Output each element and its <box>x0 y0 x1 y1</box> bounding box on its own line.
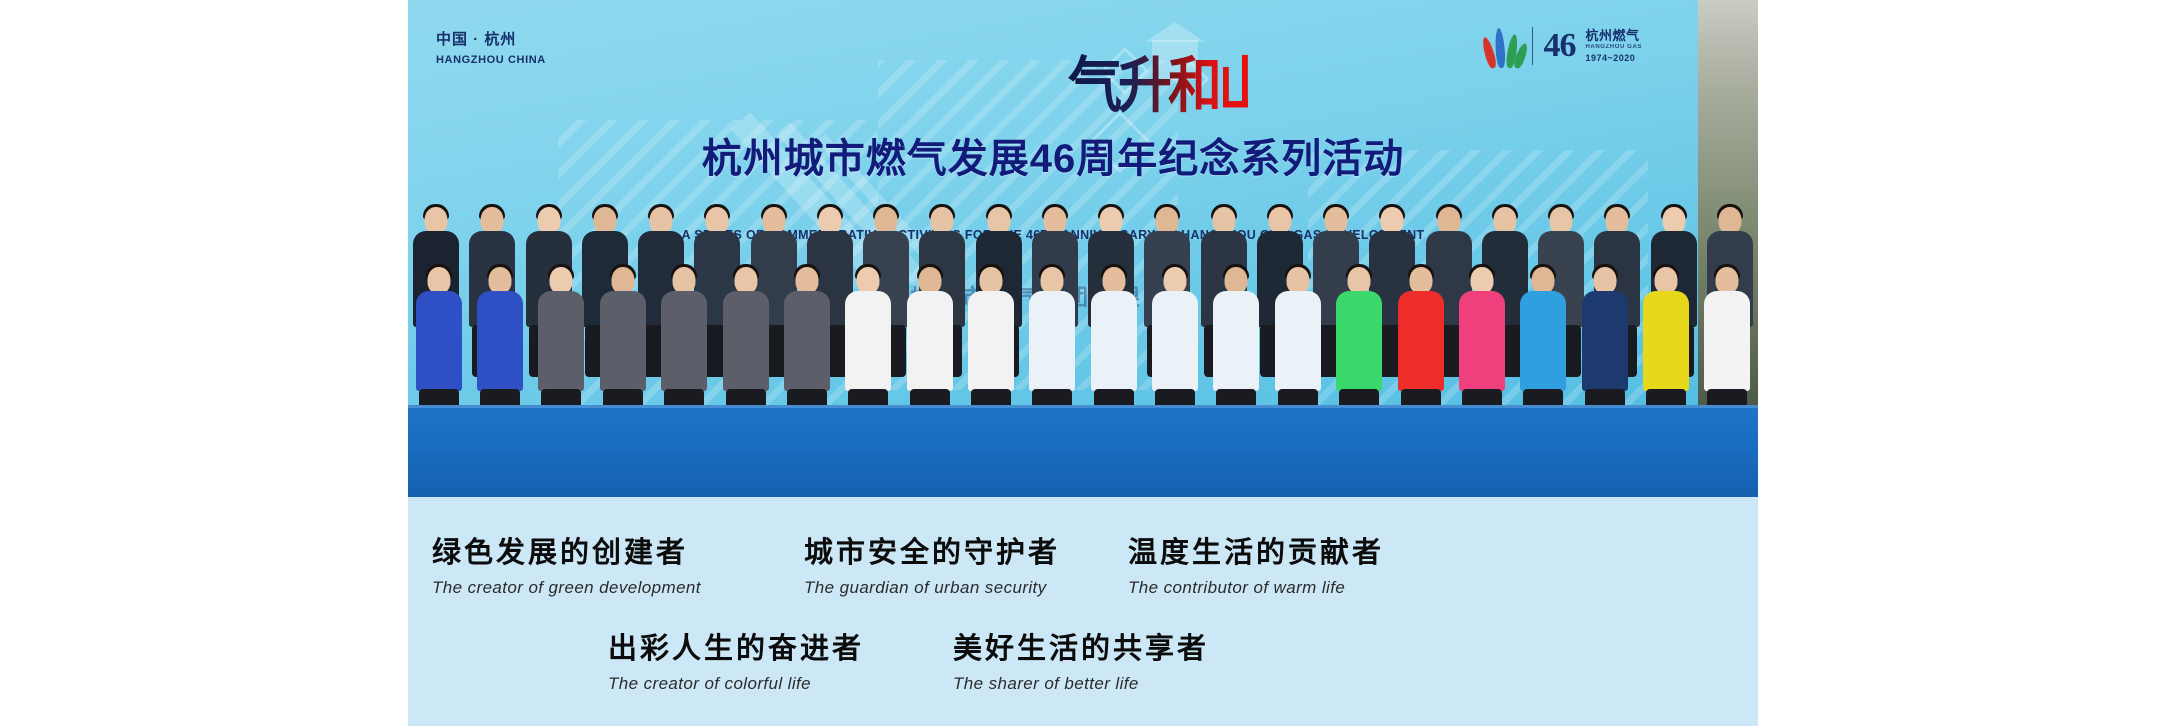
logo-name-cn: 杭州燃气 <box>1585 29 1642 44</box>
anniversary-logo: 46 杭州燃气 HANGZHOU GAS 1974~2020 <box>1488 18 1642 74</box>
event-group-photo: 中国 · 杭州 HANGZHOU CHINA 46 杭州燃气 HANGZHOU … <box>408 0 1758 497</box>
person-body <box>1029 291 1075 391</box>
person-body <box>1643 291 1689 391</box>
person-body <box>600 291 646 391</box>
person-head <box>1654 267 1677 294</box>
person-head <box>1156 207 1179 234</box>
person-head <box>762 207 785 234</box>
slogan-en: The contributor of warm life <box>1128 578 1384 598</box>
locale-label-cn: 中国 · 杭州 <box>436 28 546 49</box>
person-head <box>1716 267 1739 294</box>
locale-label: 中国 · 杭州 HANGZHOU CHINA <box>436 28 546 66</box>
person-head <box>537 207 560 234</box>
slogan-cn: 出彩人生的奋进者 <box>608 625 864 667</box>
person-head <box>1718 207 1741 234</box>
person-head <box>857 267 880 294</box>
person-head <box>673 267 696 294</box>
person-body <box>1704 291 1750 391</box>
person-head <box>1164 267 1187 294</box>
person-body <box>1582 291 1628 391</box>
person-body <box>723 291 769 391</box>
person-head <box>1100 207 1123 234</box>
person-head <box>1662 207 1685 234</box>
slogan-item: 绿色发展的创建者 The creator of green developmen… <box>432 529 701 598</box>
slogan-item: 城市安全的守护者 The guardian of urban security <box>804 529 1060 598</box>
person-head <box>1041 267 1064 294</box>
logo-name-en: HANGZHOU GAS <box>1585 44 1642 51</box>
artistic-wordmark: 气升和山 <box>1068 52 1248 124</box>
slogan-en: The creator of colorful life <box>608 674 864 694</box>
person-head <box>489 267 512 294</box>
person-head <box>1043 207 1066 234</box>
person-head <box>1348 267 1371 294</box>
person-head <box>550 267 573 294</box>
person-head <box>706 207 729 234</box>
screenshot-root: 中国 · 杭州 HANGZHOU CHINA 46 杭州燃气 HANGZHOU … <box>0 0 2179 726</box>
flame-icon <box>1488 24 1522 68</box>
person-body <box>1091 291 1137 391</box>
person-body <box>968 291 1014 391</box>
person-head <box>1493 207 1516 234</box>
slogan-cn: 绿色发展的创建者 <box>432 529 701 571</box>
person-head <box>1550 207 1573 234</box>
slogan-item: 温度生活的贡献者 The contributor of warm life <box>1128 529 1384 598</box>
blue-stage-floor <box>408 405 1758 497</box>
slogan-item: 出彩人生的奋进者 The creator of colorful life <box>608 625 864 694</box>
slogan-cn: 温度生活的贡献者 <box>1128 529 1384 571</box>
anniversary-number: 46 <box>1543 27 1575 65</box>
person-body <box>661 291 707 391</box>
person-head <box>979 267 1002 294</box>
person-body <box>477 291 523 391</box>
person-body <box>1520 291 1566 391</box>
person-head <box>987 207 1010 234</box>
person-head <box>818 207 841 234</box>
person-body <box>845 291 891 391</box>
slogan-en: The creator of green development <box>432 578 701 598</box>
person-head <box>875 207 898 234</box>
person-body <box>1336 291 1382 391</box>
person-head <box>1532 267 1555 294</box>
person-head <box>1286 267 1309 294</box>
person-head <box>734 267 757 294</box>
person-head <box>425 207 448 234</box>
person-head <box>1268 207 1291 234</box>
slogan-en: The sharer of better life <box>953 674 1209 694</box>
slogan-cn: 城市安全的守护者 <box>804 529 1060 571</box>
logo-divider <box>1532 27 1533 65</box>
person-body <box>1275 291 1321 391</box>
person-head <box>1325 207 1348 234</box>
person-body <box>1459 291 1505 391</box>
slogan-cn: 美好生活的共享者 <box>953 625 1209 667</box>
person-body <box>1213 291 1259 391</box>
person-head <box>650 207 673 234</box>
content-column: 中国 · 杭州 HANGZHOU CHINA 46 杭州燃气 HANGZHOU … <box>408 0 1758 726</box>
person-head <box>611 267 634 294</box>
person-head <box>931 207 954 234</box>
slogan-panel: 绿色发展的创建者 The creator of green developmen… <box>408 497 1758 726</box>
person-head <box>1437 207 1460 234</box>
locale-label-en: HANGZHOU CHINA <box>436 54 546 66</box>
person-head <box>1381 207 1404 234</box>
person-body <box>1152 291 1198 391</box>
logo-wordmark: 杭州燃气 HANGZHOU GAS 1974~2020 <box>1585 29 1642 63</box>
person-head <box>1225 267 1248 294</box>
person-body <box>907 291 953 391</box>
person-head <box>481 207 504 234</box>
person-head <box>1409 267 1432 294</box>
person-head <box>593 207 616 234</box>
person-head <box>1470 267 1493 294</box>
person-head <box>1606 207 1629 234</box>
person-body <box>1398 291 1444 391</box>
person-body <box>538 291 584 391</box>
person-head <box>918 267 941 294</box>
person-head <box>1212 207 1235 234</box>
logo-years: 1974~2020 <box>1585 53 1642 63</box>
person-head <box>1593 267 1616 294</box>
person-head <box>427 267 450 294</box>
person-body <box>416 291 462 391</box>
person-head <box>1102 267 1125 294</box>
person-body <box>784 291 830 391</box>
slogan-en: The guardian of urban security <box>804 578 1060 598</box>
person-head <box>795 267 818 294</box>
slogan-item: 美好生活的共享者 The sharer of better life <box>953 625 1209 694</box>
crowd-group <box>408 167 1758 497</box>
